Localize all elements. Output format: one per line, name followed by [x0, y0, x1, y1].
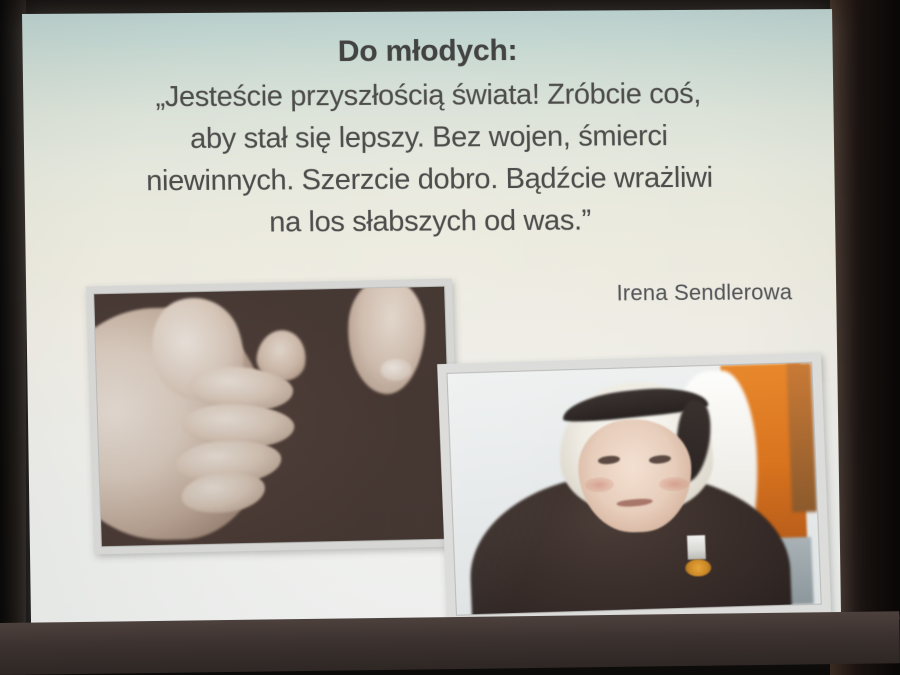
slide-surface: Do młodych: „Jesteście przyszłością świa…	[22, 9, 841, 642]
projected-slide-photo-scene: Do młodych: „Jesteście przyszłością świa…	[0, 0, 900, 675]
quote-line-2: aby stał się lepszy. Bez wojen, śmierci	[24, 114, 835, 161]
presentation-slide: Do młodych: „Jesteście przyszłością świa…	[22, 9, 841, 642]
quote-attribution: Irena Sendlerowa	[616, 279, 792, 306]
portrait-photo-inner	[446, 362, 821, 616]
clasped-hands-photo	[86, 279, 460, 555]
medal-star-shape	[685, 559, 711, 577]
room-wall-bottom	[0, 611, 900, 675]
quote-line-4: na los słabszych od was.”	[25, 198, 836, 245]
portrait-background	[447, 363, 820, 615]
slide-title: Do młodych:	[22, 31, 833, 73]
clasped-hands-photo-inner	[93, 286, 453, 548]
irena-sendlerowa-portrait-photo	[437, 352, 831, 625]
hands-photo-background	[94, 287, 452, 547]
quote-line-3: niewinnych. Szerzcie dobro. Bądźcie wraż…	[24, 156, 835, 203]
hands-photo-tone-overlay	[94, 287, 452, 547]
quote-line-1: „Jesteście przyszłością świata! Zróbcie …	[23, 72, 834, 119]
medal-ribbon-shape	[687, 535, 706, 560]
slide-text-block: Do młodych: „Jesteście przyszłością świa…	[22, 31, 835, 245]
room-wall-right	[830, 0, 900, 675]
room-wall-left	[0, 0, 26, 675]
orange-wall-panel-edge	[786, 363, 817, 513]
